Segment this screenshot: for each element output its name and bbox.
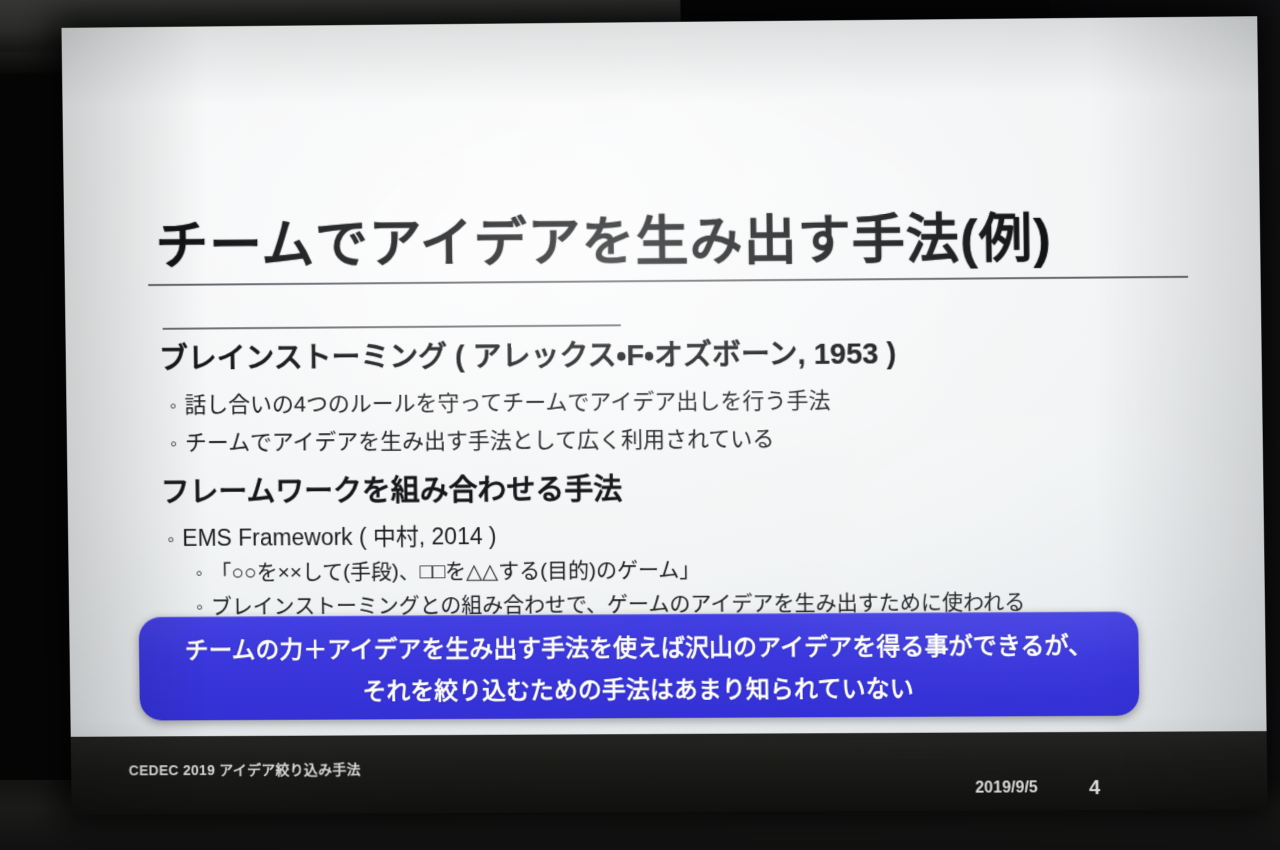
section-divider (163, 324, 621, 329)
callout-line-1: チームの力＋アイデアを生み出す手法を使えば沢山のアイデアを得る事ができるが、 (184, 625, 1092, 665)
list-item: 話し合いの4つのルールを守ってチームでアイデア出しを行う手法 (169, 383, 830, 420)
section-heading-framework: フレームワークを組み合わせる手法 (161, 466, 623, 511)
list-item: 「○○を××して(手段)、□□を△△する(目的)のゲーム」 (195, 554, 700, 587)
footer-conference-label: CEDEC 2019 アイデア絞り込み手法 (129, 759, 361, 780)
callout-line-2: それを絞り込むための手法はあまり知られていない (362, 668, 913, 706)
page-title: チームでアイデアを生み出す手法(例) (155, 197, 1052, 280)
slide-footer: CEDEC 2019 アイデア絞り込み手法 2019/9/5 4 (71, 731, 1268, 814)
projection-screen-wrap: チームでアイデアを生み出す手法(例) ブレインストーミング ( アレックス・F・… (0, 0, 1280, 850)
footer-date: 2019/9/5 (975, 779, 1038, 797)
section-heading-brainstorming: ブレインストーミング ( アレックス・F・オズボーン, 1953 ) (159, 330, 897, 377)
slide-content: チームでアイデアを生み出す手法(例) ブレインストーミング ( アレックス・F・… (61, 16, 1266, 737)
footer-page-number: 4 (1089, 777, 1100, 800)
list-item: チームでアイデアを生み出す手法として広く利用されている (170, 421, 775, 457)
projection-screen: チームでアイデアを生み出す手法(例) ブレインストーミング ( アレックス・F・… (61, 16, 1267, 814)
callout-box: チームの力＋アイデアを生み出す手法を使えば沢山のアイデアを得る事ができるが、 そ… (139, 611, 1140, 720)
photo-scene: チームでアイデアを生み出す手法(例) ブレインストーミング ( アレックス・F・… (0, 0, 1280, 850)
list-item: EMS Framework ( 中村, 2014 ) (167, 517, 497, 553)
